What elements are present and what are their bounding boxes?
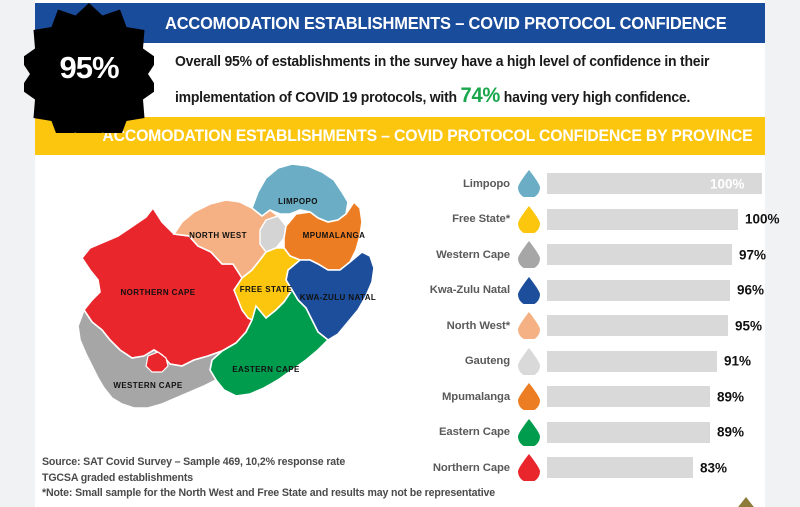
bar-track: 89% (547, 422, 750, 443)
bar-track: 91% (547, 351, 750, 372)
bar-label: Gauteng (410, 355, 510, 367)
map-pin-icon (517, 454, 541, 481)
bar-value-label: 97% (739, 247, 766, 262)
gold-corner-accent (735, 497, 757, 507)
bar-row[interactable]: Eastern Cape89% (410, 415, 750, 451)
map-label-western-cape: WESTERN CAPE (113, 381, 183, 390)
map-pin-icon (517, 312, 541, 339)
bar-row[interactable]: Mpumalanga89% (410, 379, 750, 415)
map-pin-icon (517, 170, 541, 197)
bar-value-label: 96% (737, 283, 764, 298)
bar-fill (547, 315, 728, 336)
bar-fill (547, 209, 738, 230)
south-africa-province-map: LIMPOPO NORTH WEST MPUMALANGA KWA-ZULU N… (70, 160, 420, 450)
bar-row[interactable]: Kwa-Zulu Natal96% (410, 273, 750, 309)
bar-fill (547, 244, 732, 265)
bar-track: 97% (547, 244, 750, 265)
header-blue-band-title: ACCOMODATION ESTABLISHMENTS – COVID PROT… (165, 13, 726, 34)
bar-value-label: 95% (735, 318, 762, 333)
map-pin-icon (517, 419, 541, 446)
bar-value-label: 89% (717, 389, 744, 404)
bar-fill (547, 422, 710, 443)
map-label-free-state: FREE STATE (240, 285, 293, 294)
intro-line-2-suffix: having very high confidence. (500, 90, 690, 106)
source-line-1: Source: SAT Covid Survey – Sample 469, 1… (42, 455, 495, 471)
bar-row[interactable]: Gauteng91% (410, 344, 750, 380)
province-confidence-bar-chart: Limpopo100%Free State*100%Western Cape97… (410, 166, 750, 466)
bar-label: Limpopo (410, 178, 510, 190)
bar-track: 83% (547, 457, 750, 478)
map-pin-icon (517, 348, 541, 375)
source-notes: Source: SAT Covid Survey – Sample 469, 1… (42, 455, 495, 502)
badge-value: 95% (24, 3, 154, 133)
bar-fill (547, 386, 710, 407)
bar-label: Kwa-Zulu Natal (410, 284, 510, 296)
bar-label: Eastern Cape (410, 426, 510, 438)
intro-line-1-text: Overall 95% of establishments in the sur… (175, 54, 709, 70)
source-line-3: *Note: Small sample for the North West a… (42, 486, 495, 502)
bar-row[interactable]: Free State*100% (410, 202, 750, 238)
infographic-page: ACCOMODATION ESTABLISHMENTS – COVID PROT… (0, 0, 800, 507)
bar-label: North West* (410, 320, 510, 332)
bar-row[interactable]: North West*95% (410, 308, 750, 344)
bar-value-label: 91% (724, 354, 751, 369)
bar-value-label: 100% (745, 212, 780, 227)
map-pin-icon (517, 277, 541, 304)
map-pin-icon (517, 241, 541, 268)
map-label-northern-cape: NORTHERN CAPE (121, 288, 196, 297)
bar-track: 96% (547, 280, 750, 301)
bar-track: 100% (547, 173, 750, 194)
intro-highlight-74: 74% (460, 84, 500, 107)
bar-track: 100% (547, 209, 750, 230)
bar-value-label: 83% (700, 460, 727, 475)
map-label-kwazulu-natal: KWA-ZULU NATAL (300, 293, 376, 302)
intro-line-2-prefix: implementation of COVID 19 protocols, wi… (175, 90, 460, 106)
source-line-2: TGCSA graded establishments (42, 471, 495, 487)
bar-row[interactable]: Western Cape97% (410, 237, 750, 273)
map-label-limpopo: LIMPOPO (278, 197, 318, 206)
bar-value-label: 89% (717, 425, 744, 440)
bar-fill (547, 351, 717, 372)
map-pin-icon (517, 206, 541, 233)
intro-line-2: implementation of COVID 19 protocols, wi… (175, 79, 715, 115)
bar-row[interactable]: Limpopo100% (410, 166, 750, 202)
map-pin-icon (517, 383, 541, 410)
badge-95-percent: 95% (24, 3, 154, 133)
intro-line-1: Overall 95% of establishments in the sur… (175, 46, 715, 79)
bar-label: Western Cape (410, 249, 510, 261)
map-label-north-west: NORTH WEST (189, 231, 247, 240)
bar-label: Mpumalanga (410, 391, 510, 403)
bar-fill (547, 280, 730, 301)
bar-value-label: 100% (710, 176, 745, 191)
map-label-eastern-cape: EASTERN CAPE (232, 365, 300, 374)
map-label-mpumalanga: MPUMALANGA (303, 231, 366, 240)
bar-track: 95% (547, 315, 750, 336)
bar-label: Free State* (410, 213, 510, 225)
bar-track: 89% (547, 386, 750, 407)
bar-fill (547, 457, 693, 478)
